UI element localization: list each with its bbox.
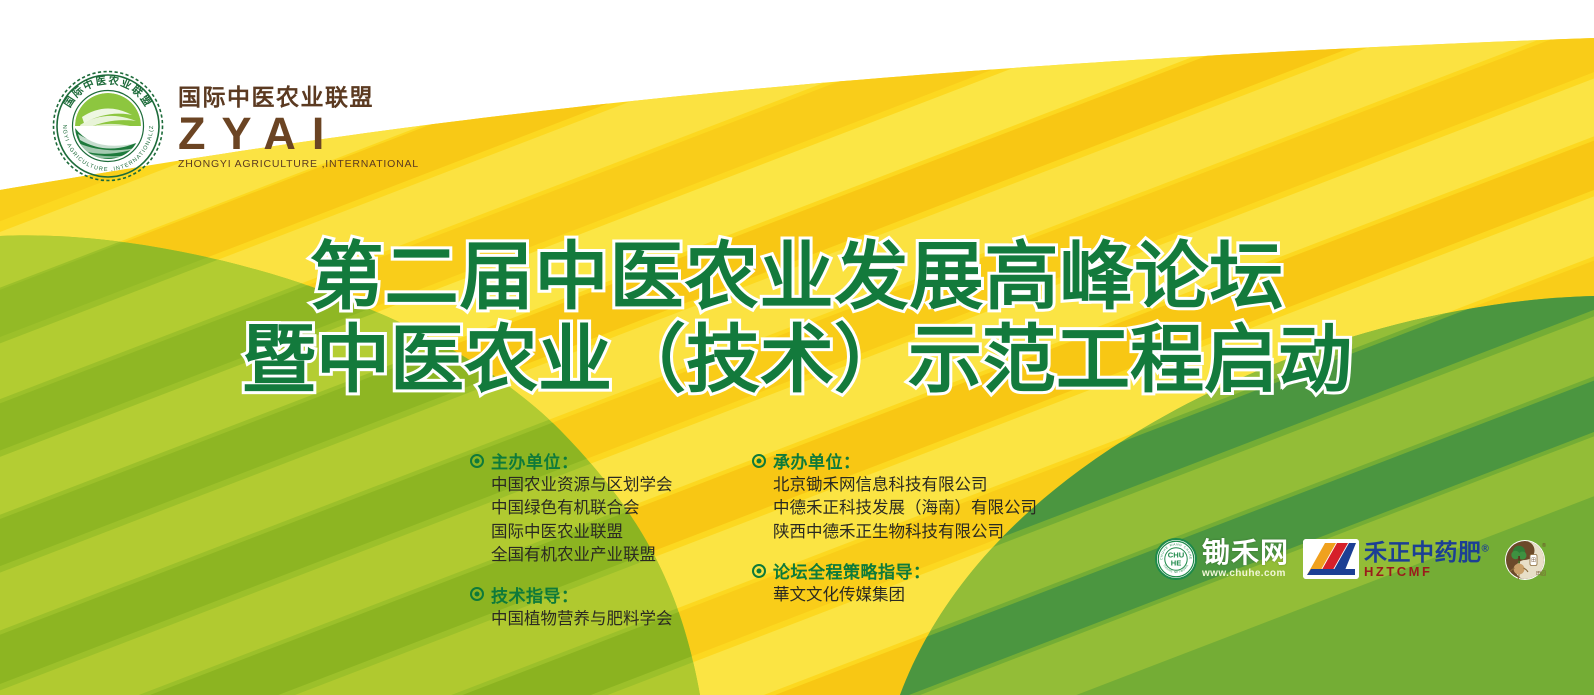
- logo-wordmark: 国际中医农业联盟 ZYAI ZHONGYI AGRICULTURE ,INTER…: [178, 81, 419, 171]
- list-item: 中国植物营养与肥料学会: [491, 608, 728, 631]
- info-item-list: 中国农业资源与区划学会 中国绿色有机联合会 国际中医农业联盟 全国有机农业产业联…: [470, 474, 728, 568]
- hezheng-name-cn: 禾正中药肥®: [1364, 541, 1489, 564]
- sponsor-logo-chuhe: CHU HE CHUHE WANG CHUHE CHUHE NETWORK 锄禾…: [1155, 538, 1289, 580]
- info-heading-text: 主办单位：: [491, 448, 579, 473]
- hezheng-name-cn-text: 禾正中药肥: [1364, 539, 1482, 565]
- info-heading-row: 主办单位：: [470, 448, 728, 473]
- chuhe-badge-icon: CHU HE CHUHE WANG CHUHE CHUHE NETWORK: [1155, 538, 1197, 580]
- svg-text:田园: 田园: [1536, 571, 1546, 577]
- organizer-info: 主办单位： 中国农业资源与区划学会 中国绿色有机联合会 国际中医农业联盟 全国有…: [470, 448, 1052, 631]
- info-heading-text: 论坛全程策略指导：: [773, 558, 931, 583]
- info-heading-text: 承办单位：: [773, 448, 861, 473]
- tree-root-circular-icon: 田 ® 田园: [1503, 535, 1551, 583]
- info-heading-text: 技术指导：: [491, 582, 579, 607]
- sponsor-logo-tree-emblem: 田 ® 田园: [1503, 535, 1551, 583]
- list-item: 全国有机农业产业联盟: [491, 544, 728, 567]
- svg-text:HE: HE: [1171, 559, 1182, 568]
- list-item: 華文文化传媒集团: [773, 584, 1052, 607]
- list-item: 北京锄禾网信息科技有限公司: [773, 474, 1052, 497]
- info-group-strategy-guidance: 论坛全程策略指导： 華文文化传媒集团: [752, 558, 1052, 607]
- zyai-emblem-icon: 国际中医农业联盟 ZHONGYI AGRICULTURE ,INTERNATIO…: [52, 70, 164, 182]
- organization-logo: 国际中医农业联盟 ZHONGYI AGRICULTURE ,INTERNATIO…: [52, 70, 419, 182]
- sponsor-logo-row: CHU HE CHUHE WANG CHUHE CHUHE NETWORK 锄禾…: [1155, 528, 1551, 590]
- info-item-list: 華文文化传媒集团: [752, 584, 1052, 607]
- hezheng-name-en: HZTCMF: [1364, 565, 1489, 578]
- info-heading-row: 技术指导：: [470, 582, 728, 607]
- list-item: 中国绿色有机联合会: [491, 497, 728, 520]
- list-item: 中国农业资源与区划学会: [491, 474, 728, 497]
- bullet-icon: [470, 587, 484, 601]
- sponsor-logo-hezheng: 禾正中药肥® HZTCMF: [1303, 539, 1489, 579]
- logo-abbreviation: ZYAI: [178, 111, 419, 156]
- bullet-icon: [470, 454, 484, 468]
- hezheng-text-block: 禾正中药肥® HZTCMF: [1364, 541, 1489, 578]
- info-group-organizer: 承办单位： 北京锄禾网信息科技有限公司 中德禾正科技发展（海南）有限公司 陕西中…: [752, 448, 1052, 544]
- logo-org-name-en: ZHONGYI AGRICULTURE ,INTERNATIONAL: [178, 159, 419, 171]
- registered-mark: ®: [1542, 542, 1546, 549]
- info-column-left: 主办单位： 中国农业资源与区划学会 中国绿色有机联合会 国际中医农业联盟 全国有…: [470, 448, 728, 631]
- chuhe-name-cn: 锄禾网: [1202, 539, 1289, 567]
- bullet-icon: [752, 454, 766, 468]
- chuhe-url: www.chuhe.com: [1202, 569, 1289, 579]
- info-group-technical-guidance: 技术指导： 中国植物营养与肥料学会: [470, 582, 728, 631]
- conference-banner: 国际中医农业联盟 ZHONGYI AGRICULTURE ,INTERNATIO…: [0, 0, 1594, 695]
- list-item: 国际中医农业联盟: [491, 521, 728, 544]
- logo-org-name-cn: 国际中医农业联盟: [178, 85, 419, 109]
- info-item-list: 中国植物营养与肥料学会: [470, 608, 728, 631]
- chuhe-text-block: 锄禾网 www.chuhe.com: [1202, 539, 1289, 579]
- bullet-icon: [752, 564, 766, 578]
- registered-mark: ®: [1482, 543, 1490, 554]
- info-heading-row: 承办单位：: [752, 448, 1052, 473]
- info-column-right: 承办单位： 北京锄禾网信息科技有限公司 中德禾正科技发展（海南）有限公司 陕西中…: [752, 448, 1052, 631]
- info-group-host: 主办单位： 中国农业资源与区划学会 中国绿色有机联合会 国际中医农业联盟 全国有…: [470, 448, 728, 568]
- list-item: 陕西中德禾正生物科技有限公司: [773, 521, 1052, 544]
- list-item: 中德禾正科技发展（海南）有限公司: [773, 497, 1052, 520]
- info-heading-row: 论坛全程策略指导：: [752, 558, 1052, 583]
- hz-diagonal-stripe-icon: [1303, 539, 1359, 579]
- info-item-list: 北京锄禾网信息科技有限公司 中德禾正科技发展（海南）有限公司 陕西中德禾正生物科…: [752, 474, 1052, 544]
